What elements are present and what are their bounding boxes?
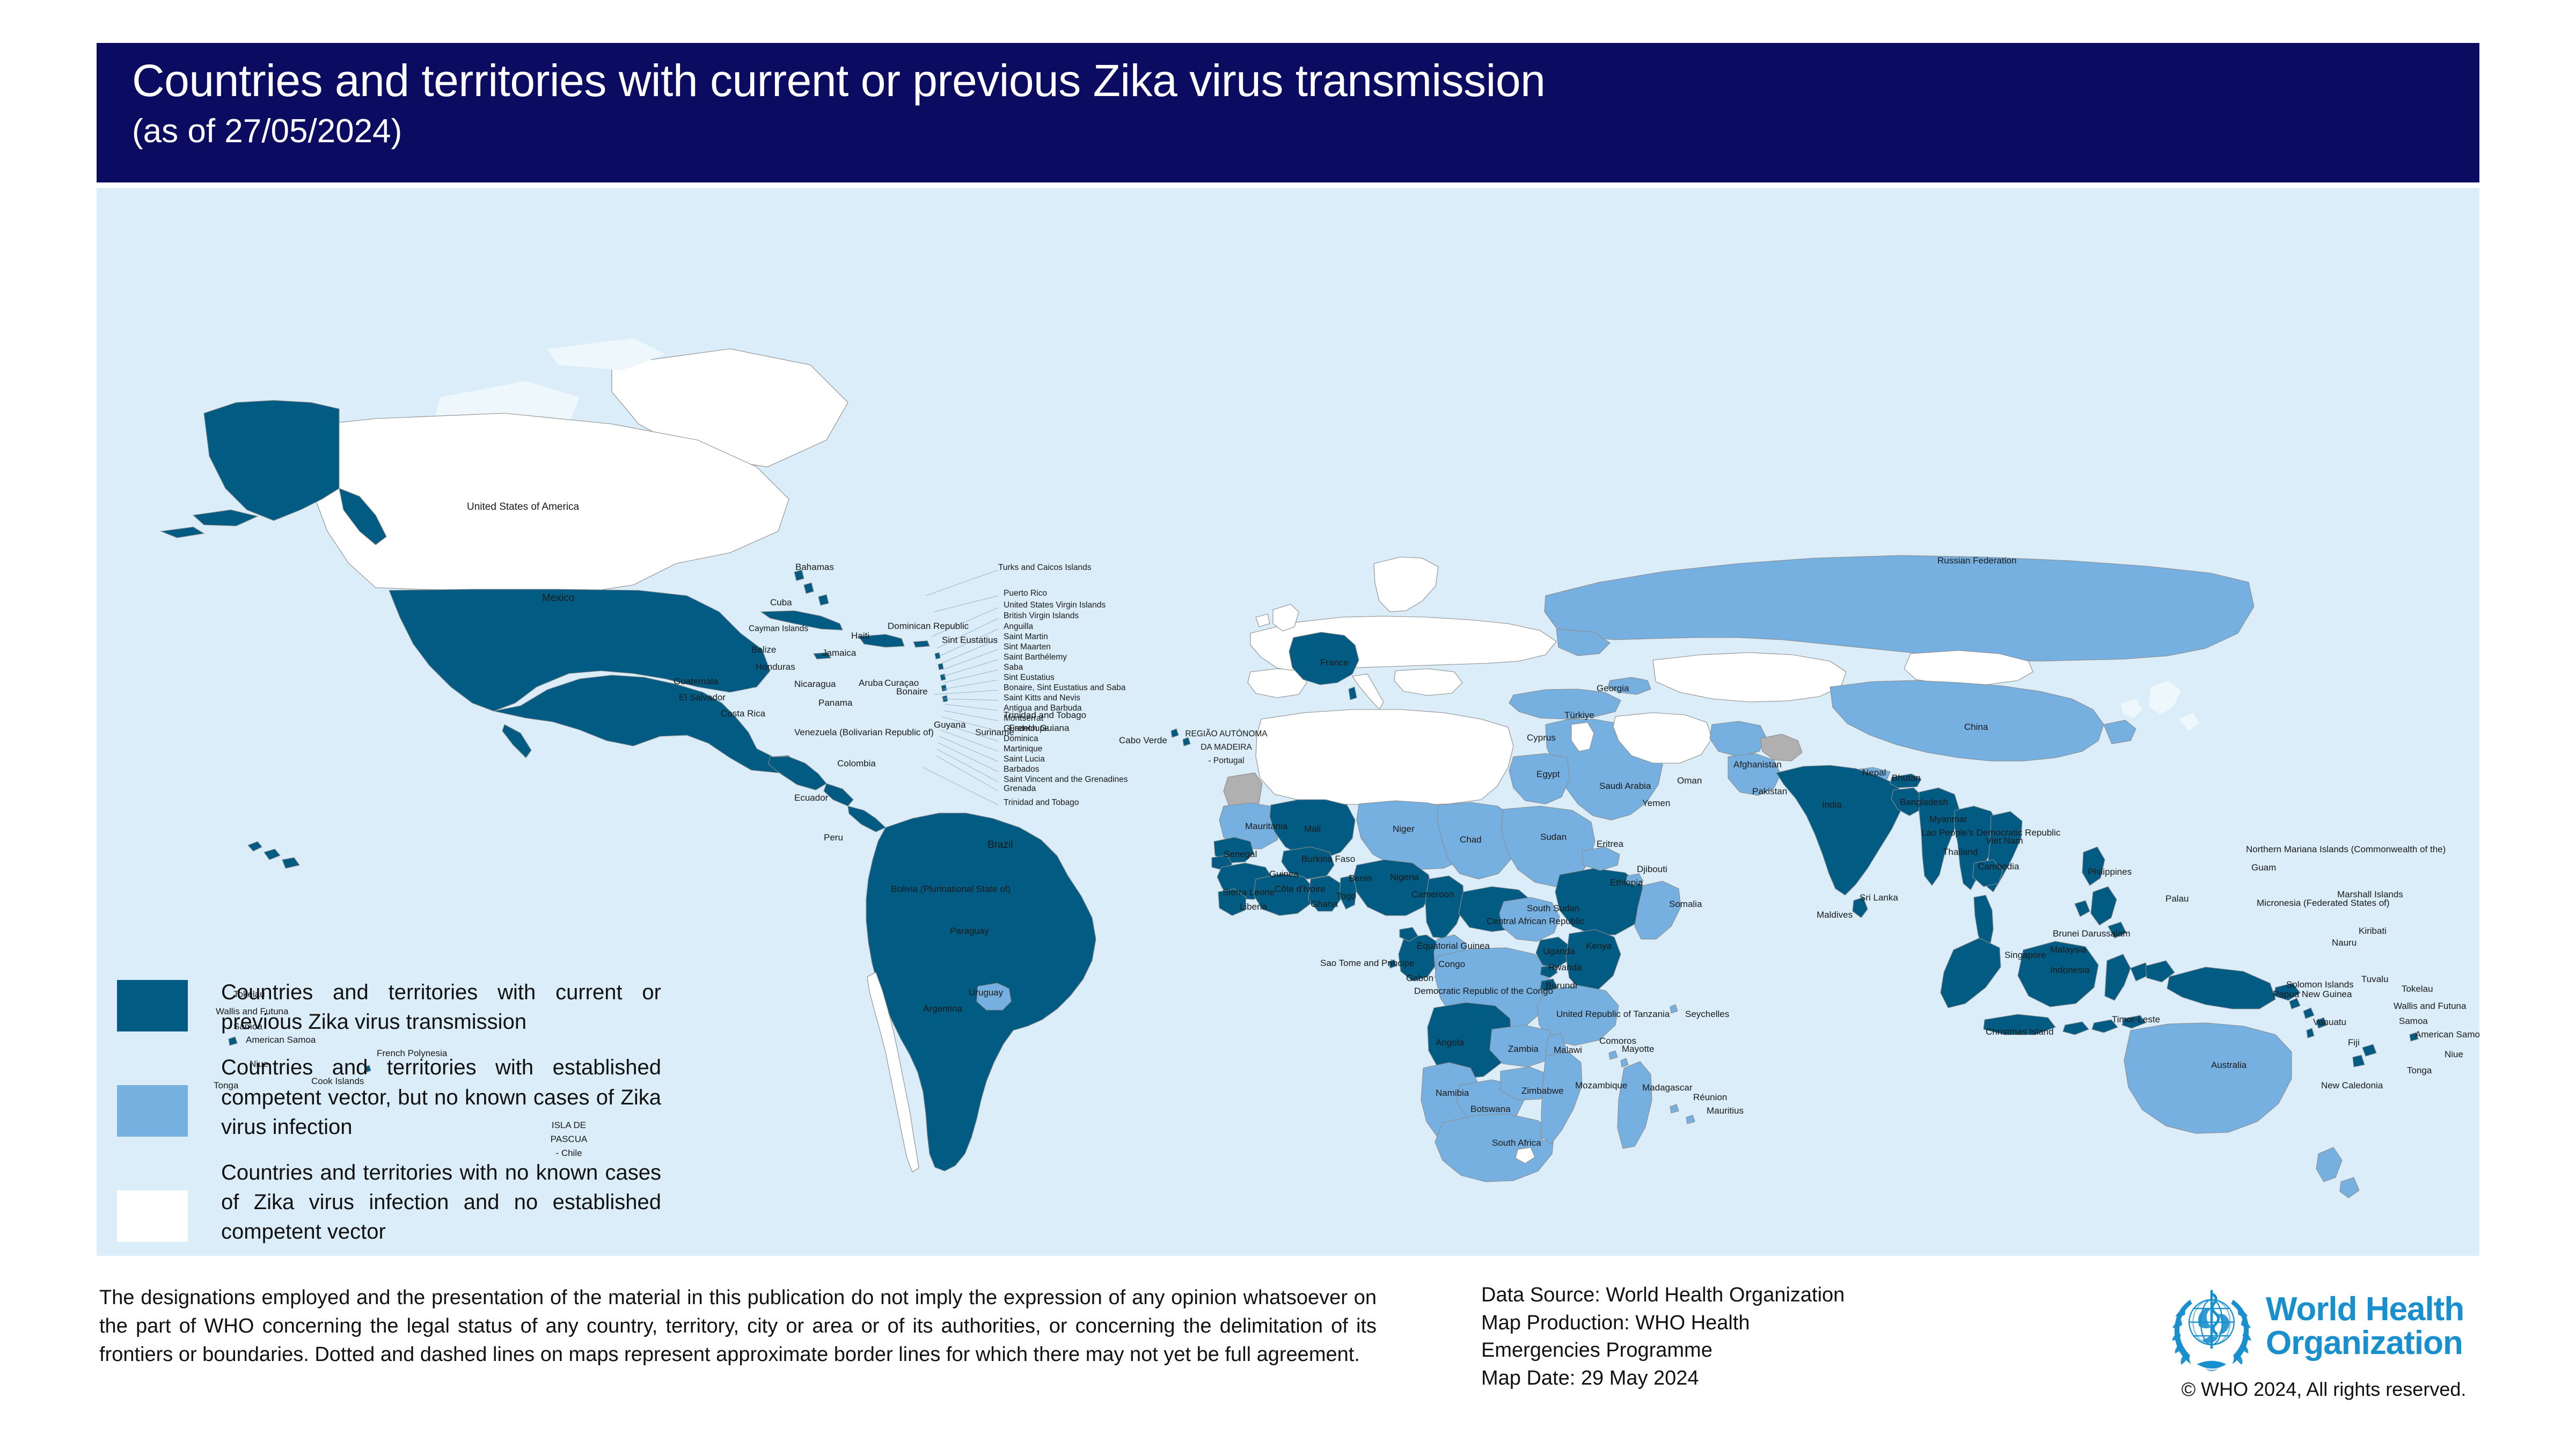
map-label: Nicaragua — [794, 679, 836, 689]
map-label: Seychelles — [1685, 1009, 1729, 1019]
map-label: Guyana — [934, 720, 966, 730]
map-label: Marshall Islands — [2337, 889, 2403, 899]
map-label: Burkina Faso — [1301, 854, 1355, 864]
map-label: Martinique — [1004, 744, 1042, 753]
map-label: Montserrat — [1004, 714, 1044, 723]
legend-swatch-none — [117, 1190, 188, 1242]
legend-swatch-transmission — [117, 980, 188, 1031]
map-label: Guatemala — [674, 676, 719, 686]
map-label: Cyprus — [1527, 733, 1556, 743]
map-label: Sierra Leone — [1223, 887, 1275, 897]
legend-item: Countries and territories with establish… — [117, 1052, 680, 1142]
map-label: United States Virgin Islands — [1004, 601, 1106, 610]
map-label: Türkiye — [1564, 710, 1594, 720]
map-label: Bolivia (Plurinational State of) — [891, 884, 1011, 894]
map-label: Rwanda — [1548, 962, 1582, 972]
map-label: New Caledonia — [2321, 1080, 2383, 1091]
legend-item: Countries and territories with no known … — [117, 1157, 680, 1247]
map-label: Jamaica — [822, 648, 857, 658]
map-label: Oman — [1677, 775, 1702, 786]
map-label: Mayotte — [1622, 1044, 1654, 1054]
map-label: Grenada — [1004, 784, 1036, 793]
map-label: Saint Martin — [1004, 632, 1048, 641]
map-label: Belize — [751, 645, 776, 655]
map-label: Maldives — [1817, 910, 1853, 920]
source-block: Data Source: World Health Organization M… — [1481, 1282, 2114, 1393]
map-label: Mali — [1304, 824, 1321, 834]
map-label: Samoa — [2399, 1016, 2428, 1026]
map-label: Bahamas — [795, 562, 834, 572]
map-label: Kiribati — [2359, 926, 2387, 936]
map-label: Eritrea — [1597, 839, 1624, 849]
map-production-line-2: Emergencies Programme — [1481, 1337, 2114, 1365]
map-label: Sint Eustatius — [942, 635, 998, 645]
map-label: Singapore — [2004, 950, 2046, 960]
map-label: British Virgin Islands — [1004, 611, 1079, 620]
who-wordmark-line2: Organization — [2266, 1326, 2464, 1360]
map-label: Philippines — [2088, 867, 2132, 877]
map-label: Liberia — [1240, 902, 1268, 912]
data-source-line: Data Source: World Health Organization — [1481, 1282, 2114, 1309]
map-label: Malaysia — [2050, 945, 2087, 955]
who-emblem-icon — [2163, 1277, 2260, 1375]
map-label: Niger — [1393, 824, 1415, 834]
legend-label: Countries and territories with establish… — [221, 1052, 661, 1142]
map-label: El Salvador — [679, 692, 726, 702]
map-label: Trinidad and Tobago — [1004, 798, 1079, 807]
map-label: Panama — [818, 698, 853, 708]
map-label: DA MADEIRA — [1201, 743, 1252, 752]
map-label: Colombia — [837, 758, 876, 769]
map-label: Equatorial Guinea — [1417, 941, 1490, 951]
map-label: Bhutan — [1892, 773, 1921, 783]
map-label: United States of America — [467, 501, 580, 513]
map-label: Djibouti — [1637, 864, 1667, 874]
map-label: Antigua and Barbuda — [1004, 704, 1082, 713]
map-label: Costa Rica — [721, 708, 766, 719]
map-label: American Samoa — [2415, 1029, 2479, 1040]
map-label: Guinea — [1269, 869, 1299, 879]
map-label: Egypt — [1536, 769, 1560, 779]
map-label: Sint Maarten — [1004, 642, 1051, 652]
map-label: Russian Federation — [1937, 555, 2016, 566]
map-label: Argentina — [923, 1004, 962, 1014]
map-label: Viet Nam — [1986, 836, 2023, 846]
map-label: Cambodia — [1978, 861, 2019, 872]
map-label: France — [1320, 657, 1349, 668]
map-label: Northern Mariana Islands (Commonwealth o… — [2246, 844, 2446, 854]
page-subtitle: (as of 27/05/2024) — [132, 114, 2479, 149]
map-label: Somalia — [1669, 899, 1702, 909]
map-label: Cameroon — [1411, 889, 1454, 899]
map-label: Nauru — [2332, 938, 2357, 948]
map-label: Indonesia — [2050, 965, 2090, 975]
map-label: Wallis and Futuna — [2394, 1001, 2467, 1011]
map-label: Papua New Guinea — [2273, 989, 2352, 999]
who-wordmark-line1: World Health — [2266, 1292, 2464, 1326]
map-label: Ethiopia — [1610, 877, 1643, 888]
map-label: Guam — [2251, 862, 2276, 873]
map-label: Saint Barthélemy — [1004, 653, 1067, 662]
map-label: Zambia — [1508, 1044, 1539, 1054]
map-label: Namibia — [1436, 1088, 1469, 1098]
map-label: Brunei Darussalam — [2053, 928, 2131, 939]
legend-item: Countries and territories with current o… — [117, 977, 680, 1037]
footer: The designations employed and the presen… — [0, 1256, 2576, 1449]
map-label: Mauritania — [1245, 821, 1288, 831]
map-date-line: Map Date: 29 May 2024 — [1481, 1365, 2114, 1393]
map-label: Côte d'Ivoire — [1275, 884, 1326, 894]
map-label: Sint Eustatius — [1004, 673, 1055, 682]
map-label: Solomon Islands — [2286, 979, 2354, 990]
map-label: Saint Kitts and Nevis — [1004, 693, 1080, 702]
map-label: - Portugal — [1208, 756, 1244, 765]
map-production-line-1: Map Production: WHO Health — [1481, 1309, 2114, 1337]
map-label: Myanmar — [1929, 814, 1967, 824]
map-label: South Africa — [1492, 1138, 1541, 1148]
map-label: Mexico — [542, 592, 574, 604]
map-label: Mozambique — [1575, 1080, 1627, 1091]
map-label: Thailand — [1943, 847, 1978, 857]
legend-swatch-vector — [117, 1085, 188, 1137]
map-label: Mauritius — [1707, 1106, 1744, 1116]
map-label: Fiji — [2348, 1037, 2360, 1048]
map-label: Botswana — [1470, 1104, 1511, 1114]
map-label: Honduras — [756, 662, 795, 672]
map-label: Afghanistan — [1733, 759, 1782, 770]
map-label: Brazil — [987, 839, 1013, 851]
legend-label: Countries and territories with no known … — [221, 1157, 661, 1247]
map-label: Sudan — [1540, 832, 1567, 842]
map-label: Dominican Republic — [888, 621, 969, 631]
map-label: Chad — [1460, 835, 1482, 845]
map-label: Gabon — [1406, 973, 1433, 983]
map-label: Kenya — [1586, 941, 1612, 951]
map-label: Vanuatu — [2313, 1017, 2346, 1027]
map-label: Georgia — [1597, 683, 1629, 693]
map-label: Democratic Republic of the Congo — [1414, 986, 1553, 996]
map-label: Cabo Verde — [1119, 735, 1167, 745]
page-title: Countries and territories with current o… — [132, 57, 2479, 104]
map-label: Guadeloupe — [1004, 724, 1049, 733]
map-label: Sao Tome and Principe — [1320, 958, 1414, 968]
map-label: Nepal — [1862, 767, 1886, 778]
map-label: Pakistan — [1752, 786, 1787, 796]
map-label: Tonga — [2407, 1065, 2432, 1075]
legend-label: Countries and territories with current o… — [221, 977, 661, 1037]
map-label: Ecuador — [794, 793, 829, 803]
map-label: Peru — [824, 832, 843, 843]
map-label: Malawi — [1554, 1045, 1582, 1055]
copyright-text: © WHO 2024, All rights reserved. — [2163, 1378, 2485, 1401]
map-label: Aruba — [859, 678, 883, 688]
map-label: Palau — [2165, 894, 2189, 904]
map-label: Congo — [1438, 959, 1465, 969]
who-wordmark: World Health Organization — [2266, 1292, 2464, 1360]
map-label: Bonaire — [896, 686, 928, 697]
map-label: Cayman Islands — [749, 624, 808, 633]
map-label: Venezuela (Bolivarian Republic of) — [794, 727, 934, 737]
map-label: Turks and Caicos Islands — [998, 563, 1092, 572]
map-title-banner: Countries and territories with current o… — [97, 43, 2479, 182]
map-label: Saint Lucia — [1004, 755, 1045, 764]
map-label: Cuba — [770, 597, 792, 608]
who-logo-block: World Health Organization © WHO 2024, Al… — [2163, 1277, 2495, 1401]
map-label: Nigeria — [1390, 872, 1419, 882]
map-label: South Sudan — [1527, 903, 1579, 913]
map-label: Zimbabwe — [1521, 1086, 1563, 1096]
map-label: India — [1822, 800, 1842, 810]
map-label: Benin — [1349, 873, 1372, 883]
map-label: Timor-Leste — [2112, 1014, 2160, 1024]
map-label: Togo — [1336, 891, 1356, 901]
map-label: Angola — [1436, 1037, 1464, 1048]
map-label: Yemen — [1642, 798, 1670, 808]
map-label: Anguilla — [1004, 622, 1034, 631]
map-label: Senegal — [1224, 849, 1257, 859]
map-label: Central African Republic — [1487, 916, 1585, 926]
map-label: Saudi Arabia — [1599, 781, 1651, 791]
map-label: United Republic of Tanzania — [1556, 1009, 1670, 1019]
map-label: Saint Vincent and the Grenadines — [1004, 775, 1128, 784]
map-label: Niue — [2445, 1049, 2463, 1059]
map-label: China — [1964, 722, 1988, 732]
map-label: Uganda — [1543, 946, 1575, 956]
map-label: Dominica — [1004, 734, 1038, 743]
map-label: Paraguay — [950, 926, 989, 936]
map-label: Tuvalu — [2361, 974, 2388, 984]
map-label: Réunion — [1693, 1092, 1727, 1102]
map-label: Uruguay — [969, 987, 1004, 998]
map-label: Ghana — [1311, 899, 1338, 909]
disclaimer-text: The designations employed and the presen… — [99, 1284, 1377, 1370]
who-zika-map-page: Countries and territories with current o… — [0, 0, 2576, 1449]
map-label: Tokelau — [2402, 984, 2433, 994]
map-label: Madagascar — [1642, 1082, 1693, 1093]
map-label: Bonaire, Sint Eustatius and Saba — [1004, 683, 1126, 692]
map-label: Saba — [1004, 663, 1023, 672]
map-label: Sri Lanka — [1860, 892, 1898, 903]
map-label: Bangladesh — [1900, 797, 1948, 807]
map-label: Christmas Island — [1986, 1027, 2054, 1037]
map-label: Barbados — [1004, 765, 1040, 774]
map-label: Haiti — [851, 631, 869, 641]
map-label: REGIÃO AUTÓNOMA — [1185, 729, 1268, 738]
map-label: Australia — [2211, 1060, 2247, 1070]
map-label: Puerto Rico — [1004, 589, 1047, 598]
